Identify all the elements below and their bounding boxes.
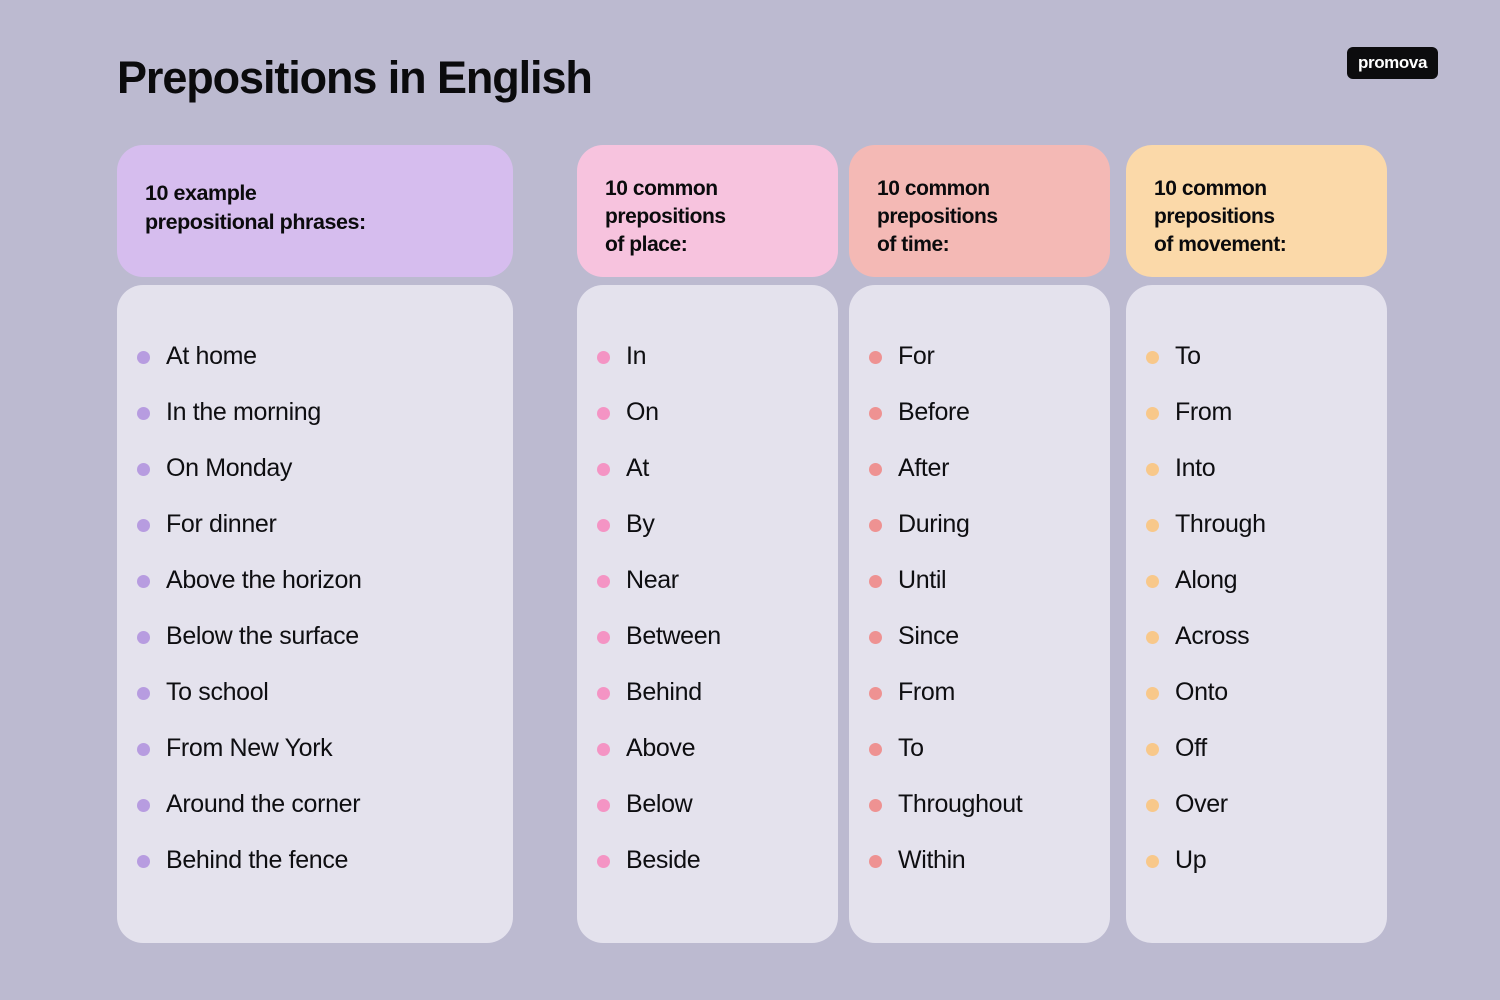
bullet-icon <box>597 743 610 756</box>
column-header-prepositions-of-place: 10 common prepositions of place: <box>577 145 838 277</box>
preposition-list-item: In <box>597 329 818 385</box>
bullet-icon <box>597 855 610 868</box>
preposition-columns: 10 example prepositional phrases: At hom… <box>0 145 1500 945</box>
preposition-list-item: On Monday <box>137 441 493 497</box>
preposition-label: At home <box>166 343 257 371</box>
preposition-list-item: Near <box>597 553 818 609</box>
column-body-prepositions-of-time: ForBeforeAfterDuringUntilSinceFromToThro… <box>849 285 1110 943</box>
preposition-list-item: Over <box>1146 777 1367 833</box>
preposition-list-item: Below the surface <box>137 609 493 665</box>
bullet-icon <box>597 631 610 644</box>
bullet-icon <box>137 519 150 532</box>
preposition-label: Into <box>1175 455 1215 483</box>
preposition-label: Through <box>1175 511 1266 539</box>
column-body-example-phrases: At homeIn the morningOn MondayFor dinner… <box>117 285 513 943</box>
preposition-list-item: Off <box>1146 721 1367 777</box>
bullet-icon <box>597 575 610 588</box>
bullet-icon <box>597 407 610 420</box>
bullet-icon <box>869 519 882 532</box>
preposition-label: Within <box>898 847 965 875</box>
bullet-icon <box>1146 743 1159 756</box>
preposition-list-item: On <box>597 385 818 441</box>
column-body-prepositions-of-place: InOnAtByNearBetweenBehindAboveBelowBesid… <box>577 285 838 943</box>
preposition-label: Until <box>898 567 946 595</box>
preposition-label: For <box>898 343 934 371</box>
preposition-label: From New York <box>166 735 332 763</box>
bullet-icon <box>137 463 150 476</box>
promova-logo: promova <box>1347 47 1438 79</box>
bullet-icon <box>597 351 610 364</box>
preposition-label: Since <box>898 623 959 651</box>
column-header-label: 10 common prepositions of movement: <box>1154 175 1359 259</box>
bullet-icon <box>137 351 150 364</box>
preposition-label: To school <box>166 679 268 707</box>
preposition-label: After <box>898 455 949 483</box>
preposition-list-item: Until <box>869 553 1090 609</box>
preposition-label: Above <box>626 735 695 763</box>
bullet-icon <box>1146 855 1159 868</box>
bullet-icon <box>137 799 150 812</box>
preposition-label: Below <box>626 791 692 819</box>
bullet-icon <box>137 855 150 868</box>
column-header-prepositions-of-movement: 10 common prepositions of movement: <box>1126 145 1387 277</box>
preposition-list-item: To <box>869 721 1090 777</box>
preposition-list-item: Throughout <box>869 777 1090 833</box>
preposition-list-item: Up <box>1146 833 1367 889</box>
bullet-icon <box>869 407 882 420</box>
preposition-list-item: For dinner <box>137 497 493 553</box>
preposition-list-item: To school <box>137 665 493 721</box>
preposition-label: On <box>626 399 659 427</box>
bullet-icon <box>1146 799 1159 812</box>
preposition-list-item: Before <box>869 385 1090 441</box>
preposition-label: Below the surface <box>166 623 359 651</box>
preposition-label: Up <box>1175 847 1206 875</box>
preposition-list-item: Above <box>597 721 818 777</box>
bullet-icon <box>1146 407 1159 420</box>
bullet-icon <box>597 519 610 532</box>
preposition-label: In the morning <box>166 399 321 427</box>
preposition-label: From <box>898 679 955 707</box>
bullet-icon <box>869 575 882 588</box>
preposition-list-item: Behind the fence <box>137 833 493 889</box>
preposition-label: On Monday <box>166 455 292 483</box>
preposition-label: In <box>626 343 646 371</box>
preposition-label: Off <box>1175 735 1207 763</box>
preposition-label: From <box>1175 399 1232 427</box>
preposition-label: Over <box>1175 791 1228 819</box>
preposition-list-item: Behind <box>597 665 818 721</box>
page-title: Prepositions in English <box>117 55 592 100</box>
column-header-label: 10 common prepositions of place: <box>605 175 810 259</box>
bullet-icon <box>869 463 882 476</box>
preposition-list-item: By <box>597 497 818 553</box>
preposition-label: Behind <box>626 679 702 707</box>
bullet-icon <box>597 463 610 476</box>
column-body-prepositions-of-movement: ToFromIntoThroughAlongAcrossOntoOffOverU… <box>1126 285 1387 943</box>
preposition-label: By <box>626 511 654 539</box>
column-prepositions-of-time: 10 common prepositions of time: ForBefor… <box>849 145 1110 943</box>
preposition-label: During <box>898 511 970 539</box>
preposition-list-item: Along <box>1146 553 1367 609</box>
bullet-icon <box>1146 631 1159 644</box>
preposition-label: Onto <box>1175 679 1228 707</box>
preposition-list-item: In the morning <box>137 385 493 441</box>
column-header-example-phrases: 10 example prepositional phrases: <box>117 145 513 277</box>
bullet-icon <box>597 687 610 700</box>
preposition-label: At <box>626 455 649 483</box>
preposition-label: Beside <box>626 847 700 875</box>
preposition-list-item: During <box>869 497 1090 553</box>
preposition-list-item: Beside <box>597 833 818 889</box>
preposition-list-item: Between <box>597 609 818 665</box>
preposition-label: Behind the fence <box>166 847 348 875</box>
promova-logo-text: promova <box>1358 54 1427 71</box>
bullet-icon <box>137 575 150 588</box>
bullet-icon <box>1146 463 1159 476</box>
preposition-list-item: After <box>869 441 1090 497</box>
preposition-label: Along <box>1175 567 1237 595</box>
preposition-label: For dinner <box>166 511 276 539</box>
preposition-list-item: From <box>869 665 1090 721</box>
preposition-label: Above the horizon <box>166 567 362 595</box>
preposition-list-item: Within <box>869 833 1090 889</box>
preposition-list-prepositions-of-movement: ToFromIntoThroughAlongAcrossOntoOffOverU… <box>1146 329 1367 889</box>
column-header-prepositions-of-time: 10 common prepositions of time: <box>849 145 1110 277</box>
preposition-list-item: At <box>597 441 818 497</box>
bullet-icon <box>869 631 882 644</box>
preposition-list-item: For <box>869 329 1090 385</box>
bullet-icon <box>1146 687 1159 700</box>
page-header: Prepositions in English promova <box>0 0 1500 145</box>
bullet-icon <box>1146 351 1159 364</box>
preposition-list-item: Across <box>1146 609 1367 665</box>
preposition-list-item: Onto <box>1146 665 1367 721</box>
bullet-icon <box>137 687 150 700</box>
bullet-icon <box>869 687 882 700</box>
preposition-label: Across <box>1175 623 1249 651</box>
preposition-label: To <box>1175 343 1201 371</box>
bullet-icon <box>869 351 882 364</box>
preposition-list-item: From <box>1146 385 1367 441</box>
bullet-icon <box>1146 575 1159 588</box>
bullet-icon <box>869 799 882 812</box>
bullet-icon <box>137 743 150 756</box>
preposition-label: Between <box>626 623 721 651</box>
bullet-icon <box>137 631 150 644</box>
preposition-list-item: Around the corner <box>137 777 493 833</box>
preposition-list-item: From New York <box>137 721 493 777</box>
bullet-icon <box>869 855 882 868</box>
preposition-list-prepositions-of-place: InOnAtByNearBetweenBehindAboveBelowBesid… <box>597 329 818 889</box>
preposition-label: Before <box>898 399 970 427</box>
preposition-list-item: Through <box>1146 497 1367 553</box>
preposition-list-item: Above the horizon <box>137 553 493 609</box>
preposition-label: Throughout <box>898 791 1022 819</box>
preposition-label: To <box>898 735 924 763</box>
preposition-list-item: Below <box>597 777 818 833</box>
bullet-icon <box>137 407 150 420</box>
preposition-list-item: Into <box>1146 441 1367 497</box>
column-header-label: 10 common prepositions of time: <box>877 175 1082 259</box>
preposition-list-item: At home <box>137 329 493 385</box>
bullet-icon <box>597 799 610 812</box>
column-example-phrases: 10 example prepositional phrases: At hom… <box>117 145 513 943</box>
preposition-list-item: Since <box>869 609 1090 665</box>
preposition-list-example-phrases: At homeIn the morningOn MondayFor dinner… <box>137 329 493 889</box>
preposition-list-item: To <box>1146 329 1367 385</box>
column-header-label: 10 example prepositional phrases: <box>145 179 485 236</box>
bullet-icon <box>869 743 882 756</box>
column-prepositions-of-movement: 10 common prepositions of movement: ToFr… <box>1126 145 1387 943</box>
preposition-label: Around the corner <box>166 791 360 819</box>
bullet-icon <box>1146 519 1159 532</box>
preposition-label: Near <box>626 567 679 595</box>
preposition-list-prepositions-of-time: ForBeforeAfterDuringUntilSinceFromToThro… <box>869 329 1090 889</box>
column-prepositions-of-place: 10 common prepositions of place: InOnAtB… <box>577 145 838 943</box>
